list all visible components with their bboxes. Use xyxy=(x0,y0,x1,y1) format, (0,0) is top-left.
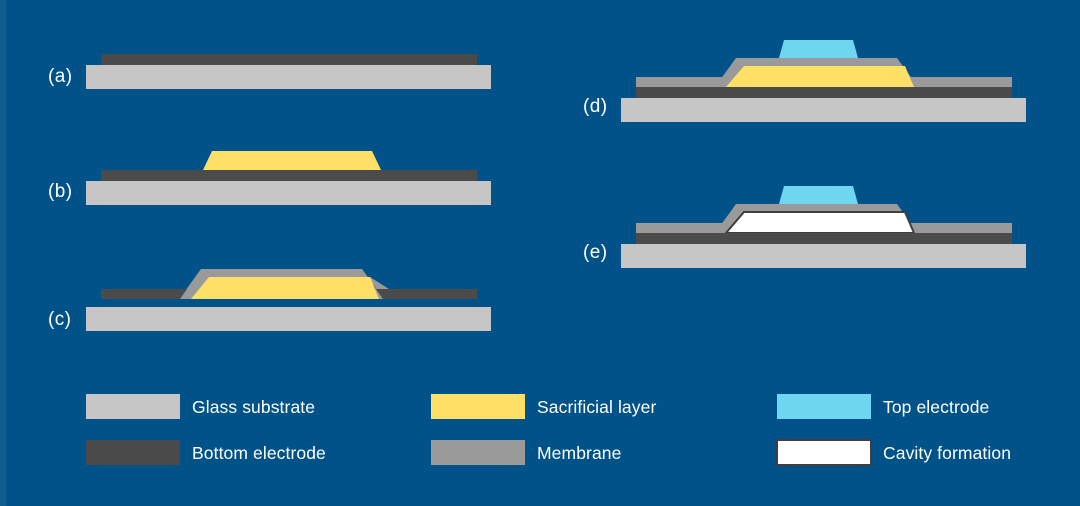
legend-swatch-top-electrode xyxy=(777,394,871,419)
legend: Glass substrate Bottom electrode Sacrifi… xyxy=(86,394,1011,465)
panel-b-glass-substrate xyxy=(86,181,491,205)
panel-d-label: (d) xyxy=(583,96,607,117)
legend-swatch-cavity-formation xyxy=(777,440,871,465)
legend-label-bottom-electrode: Bottom electrode xyxy=(192,443,326,463)
legend-label-membrane: Membrane xyxy=(537,443,621,463)
panel-e-bottom-electrode xyxy=(636,233,1012,244)
panel-e: (e) xyxy=(583,186,1026,268)
panel-e-cavity-formation xyxy=(726,212,914,233)
panel-c-label: (c) xyxy=(48,309,71,330)
legend-swatch-glass-substrate xyxy=(86,394,180,419)
legend-swatch-bottom-electrode xyxy=(86,440,180,465)
panel-d-sacrificial-layer xyxy=(726,66,914,87)
legend-column-1: Glass substrate Bottom electrode xyxy=(86,394,326,465)
panel-e-top-electrode xyxy=(779,186,858,204)
legend-column-2: Sacrificial layer Membrane xyxy=(431,394,656,465)
panel-d-bottom-electrode xyxy=(636,87,1012,98)
legend-item-top-electrode: Top electrode xyxy=(777,394,989,419)
legend-item-sacrificial-layer: Sacrificial layer xyxy=(431,394,656,419)
panel-b-label: (b) xyxy=(48,181,72,202)
legend-item-cavity-formation: Cavity formation xyxy=(777,440,1011,465)
panel-b-sacrificial-layer-top xyxy=(203,151,381,170)
panel-a: (a) xyxy=(48,54,491,89)
legend-item-bottom-electrode: Bottom electrode xyxy=(86,440,326,465)
panel-a-bottom-electrode xyxy=(101,54,477,65)
legend-swatch-sacrificial-layer xyxy=(431,394,525,419)
legend-swatch-membrane xyxy=(431,440,525,465)
panel-c: (c) xyxy=(48,269,491,331)
panel-c-sacrificial-cap xyxy=(191,277,379,299)
panel-d-glass-substrate xyxy=(621,98,1026,122)
diagram-canvas: (a) (b) (c) xyxy=(0,0,1080,506)
panel-a-label: (a) xyxy=(48,66,72,87)
legend-item-glass-substrate: Glass substrate xyxy=(86,394,315,419)
panel-d: (d) xyxy=(583,40,1026,122)
legend-label-glass-substrate: Glass substrate xyxy=(192,397,315,417)
panel-e-glass-substrate xyxy=(621,244,1026,268)
panel-b-bottom-electrode xyxy=(101,170,477,181)
legend-label-top-electrode: Top electrode xyxy=(883,397,989,417)
panel-c-glass-substrate xyxy=(86,307,491,331)
panel-a-glass-substrate xyxy=(86,65,491,89)
legend-label-cavity-formation: Cavity formation xyxy=(883,443,1011,463)
legend-column-3: Top electrode Cavity formation xyxy=(777,394,1011,465)
panel-e-label: (e) xyxy=(583,242,607,263)
panel-d-top-electrode xyxy=(779,40,858,58)
legend-item-membrane: Membrane xyxy=(431,440,621,465)
process-flow-figure: (a) (b) (c) xyxy=(0,0,1080,506)
legend-label-sacrificial-layer: Sacrificial layer xyxy=(537,397,656,417)
panel-b: (b) xyxy=(48,151,491,205)
